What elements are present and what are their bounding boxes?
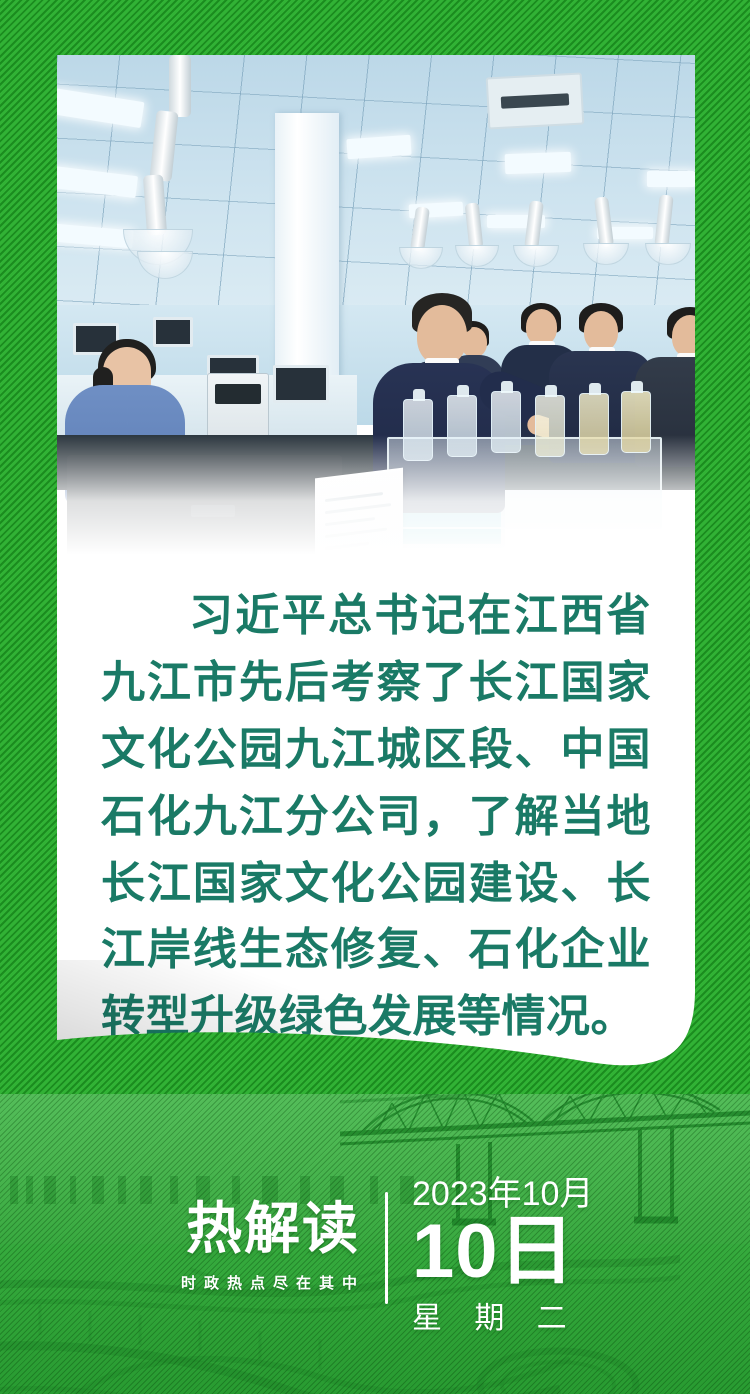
ceiling-light (505, 152, 572, 174)
extraction-arm (143, 174, 167, 235)
footer: 热解读 时政热点尽在其中 2023年10月 10日 星 期 二 (0, 1164, 750, 1394)
extraction-arm (169, 55, 191, 117)
vertical-divider (385, 1192, 388, 1304)
ceiling-ac-vent (486, 73, 585, 130)
article-body-text: 习近平总书记在江西省九江市先后考察了长江国家文化公园九江城区段、中国石化九江分公… (101, 583, 651, 1051)
date-weekday: 星 期 二 (412, 1293, 612, 1337)
headline-photo (57, 55, 695, 555)
lab-monitor (273, 365, 329, 403)
official-head (672, 315, 695, 357)
photo-bottom-fade (57, 435, 695, 555)
main-figure-head (417, 305, 467, 365)
brand-logo: 热解读 (178, 1202, 368, 1258)
ceiling-light (647, 171, 695, 187)
lab-monitor (153, 317, 193, 347)
brand-block[interactable]: 热解读 时政热点尽在其中 (178, 1202, 368, 1293)
date-day: 10日 (412, 1213, 612, 1291)
date-block: 2023年10月 10日 星 期 二 (412, 1176, 612, 1337)
attendee-head (526, 309, 557, 345)
photo-scene (57, 55, 695, 555)
date-year-month: 2023年10月 (412, 1176, 612, 1213)
brand-tagline: 时政热点尽在其中 (178, 1272, 368, 1293)
official-head (584, 311, 618, 351)
content-card: 习近平总书记在江西省九江市先后考察了长江国家文化公园九江城区段、中国石化九江分公… (57, 55, 695, 1110)
